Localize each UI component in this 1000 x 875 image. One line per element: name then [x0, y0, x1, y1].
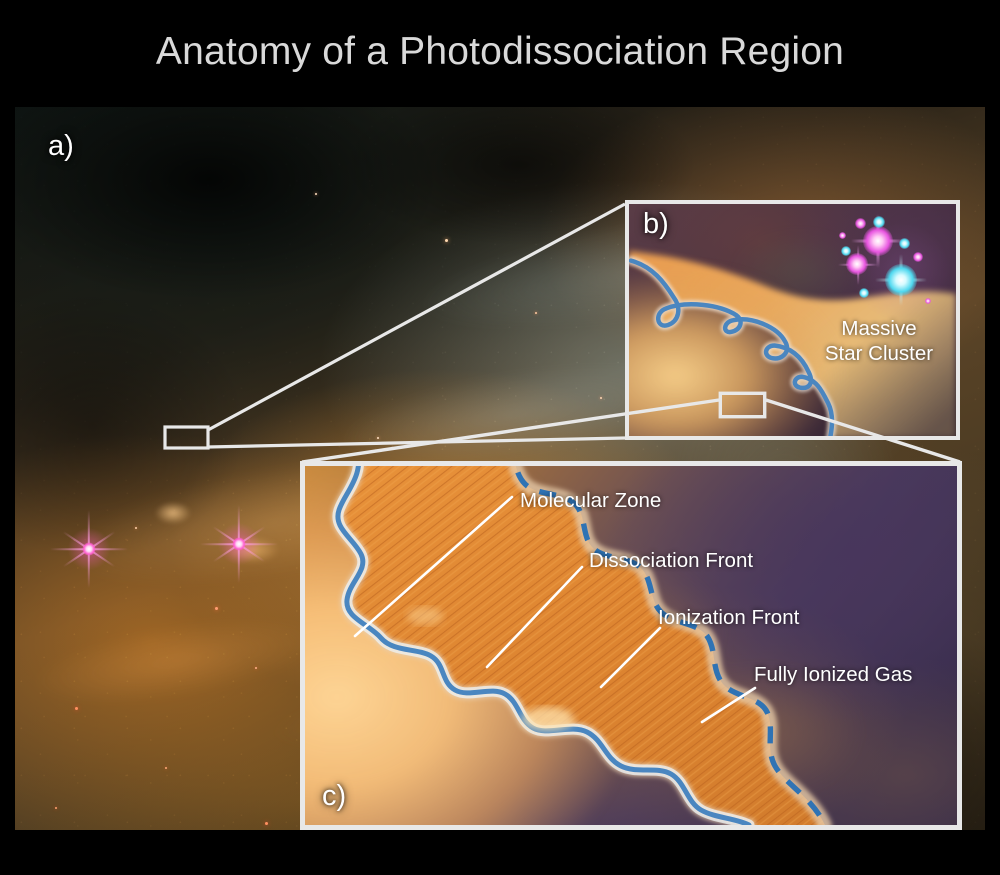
ionized-cavity — [407, 607, 443, 625]
massive-star-cluster-label: Massive Star Cluster — [799, 316, 959, 366]
cluster-star-small — [899, 238, 910, 249]
pdr-cross-section — [305, 466, 957, 825]
callout-ionization-front: Ionization Front — [658, 606, 799, 630]
panel-c-label: c) — [322, 780, 346, 813]
cluster-star-magenta — [863, 226, 893, 256]
panel-c: c) — [300, 461, 962, 830]
cluster-star-magenta — [846, 253, 868, 275]
cluster-label-line2: Star Cluster — [799, 341, 959, 366]
callout-fully-ionized-gas: Fully Ionized Gas — [754, 663, 912, 687]
cluster-star-small — [913, 252, 923, 262]
cluster-star-small — [859, 288, 869, 298]
panel-b-label: b) — [643, 208, 669, 241]
panel-b: Massive Star Cluster b) — [625, 200, 960, 440]
bright-star-diffraction — [88, 548, 90, 550]
cluster-star-small — [841, 246, 851, 256]
cluster-label-line1: Massive — [799, 316, 959, 341]
massive-star-cluster — [837, 216, 957, 326]
bright-star-diffraction — [238, 543, 240, 545]
panel-a-label: a) — [48, 130, 74, 163]
cluster-star-small — [839, 232, 846, 239]
panel-b-inset-box[interactable] — [720, 393, 765, 417]
nebula-knot — [155, 502, 191, 524]
cluster-star-small — [925, 298, 931, 304]
cluster-star-small — [855, 218, 866, 229]
figure-root: Anatomy of a Photodissociation Region — [0, 0, 1000, 875]
callout-dissociation-front: Dissociation Front — [589, 549, 753, 573]
ionized-cavity — [522, 707, 574, 731]
cluster-star-small — [873, 216, 885, 228]
callout-molecular-zone: Molecular Zone — [520, 489, 661, 513]
cluster-star-cyan — [885, 264, 917, 296]
figure-title: Anatomy of a Photodissociation Region — [0, 30, 1000, 74]
